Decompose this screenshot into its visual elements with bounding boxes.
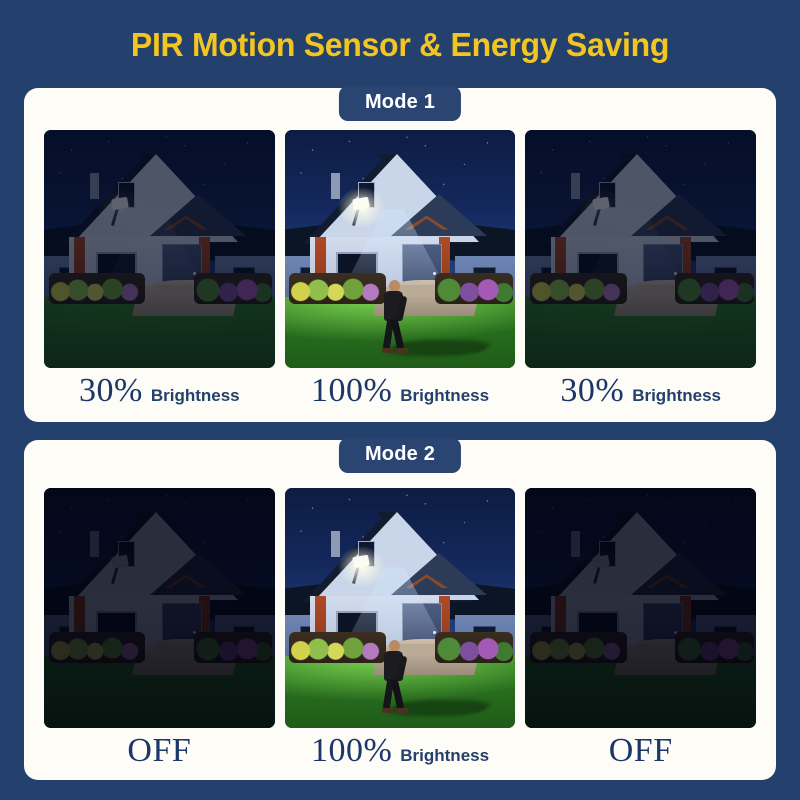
- porch-steps: [157, 285, 194, 297]
- flower-bed-left: [289, 632, 386, 663]
- flower-bed-right: [675, 273, 753, 304]
- scene-image-house-night-dim: [525, 130, 756, 368]
- flower-bed-right: [435, 273, 513, 304]
- mode-badge-2: Mode 2: [339, 438, 461, 473]
- flower-bed-right: [194, 632, 272, 663]
- person-shoe-front: [382, 708, 394, 713]
- flower-bed-left: [49, 273, 146, 304]
- flower-bed-left: [530, 632, 627, 663]
- panel-row-mode2: OFF: [44, 488, 756, 774]
- scene-image-house-night-bright-with-person: [285, 130, 516, 368]
- porch-steps: [157, 644, 194, 656]
- scene-image-house-night-off: [44, 488, 275, 728]
- porch-steps: [638, 644, 675, 656]
- lamp-glow: [338, 187, 386, 229]
- mode-badge-1: Mode 1: [339, 86, 461, 121]
- caption-value: OFF: [609, 734, 673, 768]
- porch-steps: [638, 285, 675, 297]
- flower-bed-left: [289, 273, 386, 304]
- panel-mode2-2: 100% Brightness: [285, 488, 516, 774]
- panel-mode1-3: 30% Brightness: [525, 130, 756, 414]
- caption-mode1-3: 30% Brightness: [525, 368, 756, 414]
- panel-row-mode1: 30% Brightness: [44, 130, 756, 414]
- scene-image-house-night-dim: [44, 130, 275, 368]
- lamp-glow: [97, 187, 145, 229]
- caption-mode2-3: OFF: [525, 728, 756, 774]
- lamp-glow: [97, 546, 145, 588]
- flower-bed-left: [530, 273, 627, 304]
- person-leg-back: [391, 319, 405, 350]
- caption-label: Brightness: [400, 747, 489, 764]
- caption-label: Brightness: [632, 387, 721, 404]
- flower-bed-right: [435, 632, 513, 663]
- person-shoe-back: [396, 348, 408, 353]
- caption-value: 100%: [311, 374, 392, 408]
- person-shoe-back: [396, 708, 408, 713]
- caption-mode1-1: 30% Brightness: [44, 368, 275, 414]
- caption-mode2-2: 100% Brightness: [285, 728, 516, 774]
- lamp-glow: [578, 187, 626, 229]
- person-shoe-front: [382, 348, 394, 353]
- lamp-glow: [338, 546, 386, 588]
- caption-value: 30%: [560, 374, 624, 408]
- flower-bed-right: [194, 273, 272, 304]
- person-leg-back: [391, 679, 405, 710]
- lamp-glow: [578, 546, 626, 588]
- mode-card-1: Mode 1: [24, 88, 776, 422]
- walking-person: [377, 280, 411, 358]
- flower-bed-left: [49, 632, 146, 663]
- caption-mode2-1: OFF: [44, 728, 275, 774]
- scene-image-house-night-bright-with-person: [285, 488, 516, 728]
- panel-mode2-1: OFF: [44, 488, 275, 774]
- page-title: PIR Motion Sensor & Energy Saving: [12, 0, 788, 61]
- caption-label: Brightness: [151, 387, 240, 404]
- panel-mode2-3: OFF: [525, 488, 756, 774]
- flower-bed-right: [675, 632, 753, 663]
- caption-value: OFF: [127, 734, 191, 768]
- panel-mode1-2: 100% Brightness: [285, 130, 516, 414]
- caption-value: 30%: [79, 374, 143, 408]
- caption-label: Brightness: [400, 387, 489, 404]
- caption-mode1-2: 100% Brightness: [285, 368, 516, 414]
- panel-mode1-1: 30% Brightness: [44, 130, 275, 414]
- mode-card-2: Mode 2: [24, 440, 776, 780]
- scene-image-house-night-off: [525, 488, 756, 728]
- walking-person: [377, 640, 411, 718]
- caption-value: 100%: [311, 734, 392, 768]
